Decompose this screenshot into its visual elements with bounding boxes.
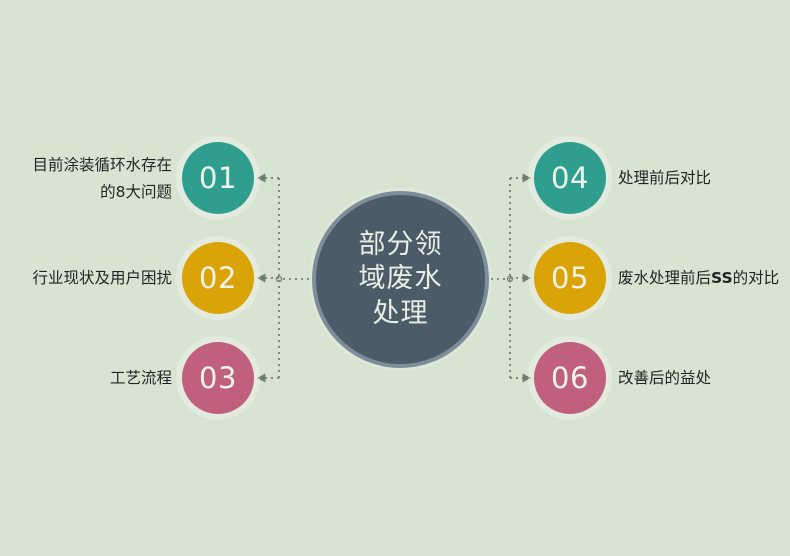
- node-05[interactable]: 05: [534, 242, 606, 314]
- node-04-caption: 处理前后对比: [618, 165, 711, 192]
- node-03-number: 03: [199, 364, 237, 393]
- node-04[interactable]: 04: [534, 142, 606, 214]
- node-06-caption: 改善后的益处: [618, 365, 711, 392]
- infographic-canvas: 01 目前涂装循环水存在 的8大问题 02 行业现状及用户困扰 03 工艺流程 …: [0, 0, 790, 556]
- node-05-number: 05: [551, 264, 589, 293]
- node-06-number: 06: [551, 364, 589, 393]
- hub-circle[interactable]: 部分领 域废水 处理: [312, 191, 489, 368]
- node-02-number: 02: [199, 264, 237, 293]
- hub-title: 部分领 域废水 处理: [341, 228, 461, 332]
- node-03-caption: 工艺流程: [110, 365, 172, 392]
- node-02[interactable]: 02: [182, 242, 254, 314]
- node-01[interactable]: 01: [182, 142, 254, 214]
- node-01-caption: 目前涂装循环水存在 的8大问题: [32, 152, 172, 206]
- node-04-number: 04: [551, 164, 589, 193]
- node-02-caption: 行业现状及用户困扰: [32, 265, 172, 292]
- node-06[interactable]: 06: [534, 342, 606, 414]
- node-01-number: 01: [199, 164, 237, 193]
- node-03[interactable]: 03: [182, 342, 254, 414]
- node-05-caption: 废水处理前后SS的对比: [618, 265, 779, 292]
